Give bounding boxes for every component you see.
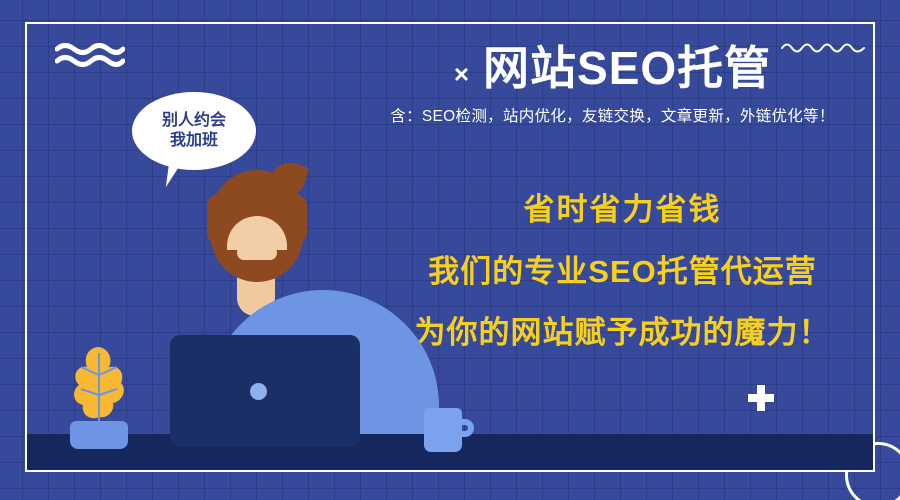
slogan-line-1: 省时省力省钱	[360, 192, 885, 228]
header-block: × 网站SEO托管 含：SEO检测，站内优化，友链交换，文章更新，外链优化等！	[340, 44, 885, 126]
speech-bubble-line-2: 我加班	[170, 131, 218, 151]
multiply-icon: ×	[454, 61, 469, 87]
person-mouth	[237, 246, 277, 260]
slogan-line-2: 我们的专业SEO托管代运营	[360, 254, 885, 290]
slogan-line-3: 为你的网站赋予成功的魔力！	[360, 315, 885, 351]
double-wave-icon	[55, 42, 125, 68]
speech-bubble-line-1: 别人约会	[162, 111, 226, 131]
laptop-illustration	[170, 335, 360, 447]
slogan-block: 省时省力省钱 我们的专业SEO托管代运营 为你的网站赋予成功的魔力！	[360, 192, 885, 351]
plant-illustration	[45, 345, 135, 445]
mug-illustration	[424, 408, 476, 452]
plus-icon	[748, 385, 774, 411]
page-title: 网站SEO托管	[483, 44, 771, 92]
person-hair-side-right	[287, 194, 307, 246]
seo-promo-banner: × 网站SEO托管 含：SEO检测，站内优化，友链交换，文章更新，外链优化等！ …	[0, 0, 900, 500]
plant-pot	[70, 421, 128, 449]
leaf-icon	[69, 345, 129, 429]
person-hair-side-left	[207, 194, 227, 246]
mug-body	[424, 408, 462, 452]
title-row: × 网站SEO托管	[340, 44, 885, 92]
page-subtitle: 含：SEO检测，站内优化，友链交换，文章更新，外链优化等！	[340, 104, 885, 126]
speech-bubble: 别人约会 我加班	[132, 92, 256, 170]
laptop-logo-dot	[250, 383, 267, 400]
